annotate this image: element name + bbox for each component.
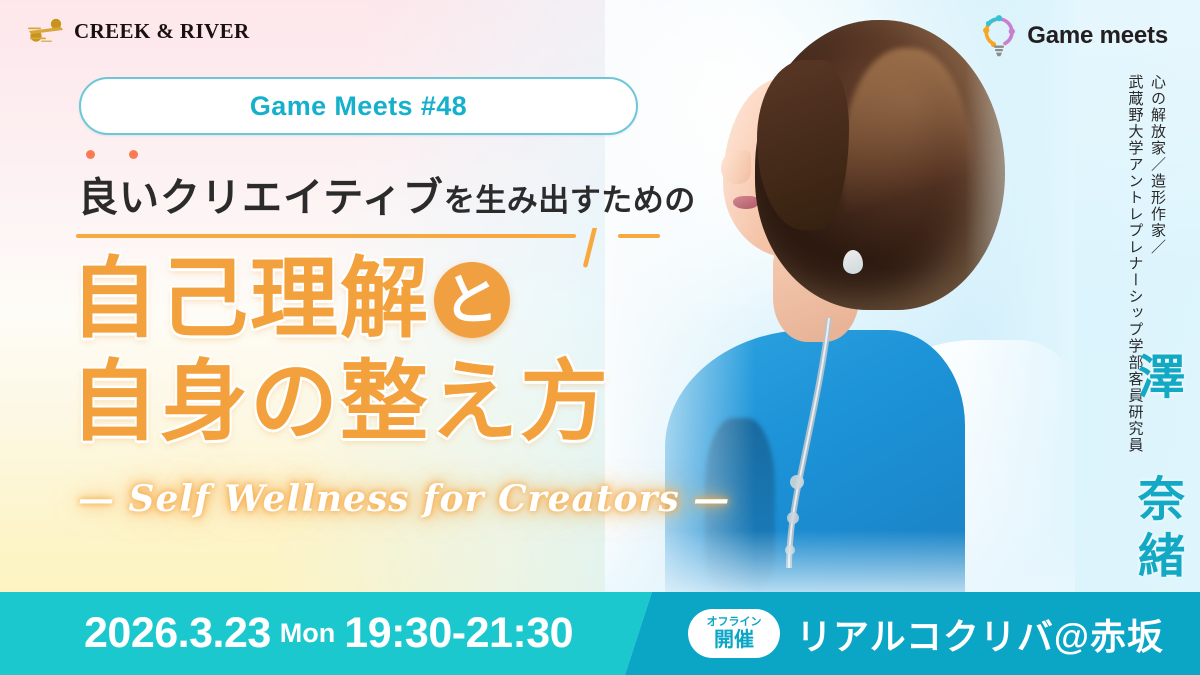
episode-badge-label: Game Meets #48	[250, 91, 467, 122]
photo-bottom-fade	[605, 530, 1075, 600]
event-weekday: Mon	[280, 618, 335, 649]
photo-hair-front	[757, 60, 849, 230]
creek-river-mark-icon	[27, 18, 67, 44]
event-banner: CREEK & RIVER Game meets Game Meets #48	[0, 0, 1200, 675]
photo-earring	[843, 250, 863, 274]
emphasis-dot-1	[86, 150, 95, 159]
game-meets-bulb-icon	[979, 14, 1019, 58]
game-meets-wordmark: Game meets	[1027, 22, 1168, 50]
event-schedule: 2026.3.23 Mon 19:30-21:30	[84, 592, 573, 675]
venue-name: リアルコクリバ@赤坂	[796, 608, 1164, 660]
photo-hair-sheen	[843, 48, 973, 278]
headline-line-1-text: 自己理解	[70, 247, 430, 350]
headline-line-2: 自身の整え方	[70, 351, 690, 454]
event-date: 2026.3.23	[84, 609, 271, 658]
title-kicker: 良いクリエイティブ を生み出すための	[78, 165, 696, 223]
creek-river-wordmark: CREEK & RIVER	[74, 19, 250, 44]
main-headline: 自己理解と 自身の整え方	[70, 248, 690, 454]
event-venue: オフライン 開催 リアルコクリバ@赤坂	[688, 592, 1164, 675]
footer-bar: 2026.3.23 Mon 19:30-21:30 オフライン 開催 リアルコク…	[0, 592, 1200, 675]
offline-badge-top-label: オフライン	[707, 617, 762, 628]
emphasis-dots	[86, 150, 138, 159]
speaker-credit-line-1: 心の解放家／造形作家／	[1150, 74, 1167, 256]
game-meets-logo[interactable]: Game meets	[979, 14, 1168, 58]
offline-badge: オフライン 開催	[688, 609, 780, 658]
event-time: 19:30-21:30	[344, 609, 573, 658]
headline-line-1: 自己理解と	[70, 248, 690, 351]
speaker-name: 澤 奈緒	[1133, 352, 1180, 588]
kicker-emphasis: 良いクリエイティブ	[78, 165, 444, 223]
emphasis-dot-2	[129, 150, 138, 159]
kicker-rest: を生み出すための	[444, 175, 696, 220]
creek-river-logo[interactable]: CREEK & RIVER	[27, 18, 250, 44]
headline-circle-char: と	[434, 262, 510, 338]
photo-right-fade	[965, 0, 1075, 600]
offline-badge-main-label: 開催	[714, 630, 754, 650]
script-subtitle: — Self Wellness for Creators —	[78, 478, 644, 520]
episode-badge[interactable]: Game Meets #48	[79, 77, 638, 135]
